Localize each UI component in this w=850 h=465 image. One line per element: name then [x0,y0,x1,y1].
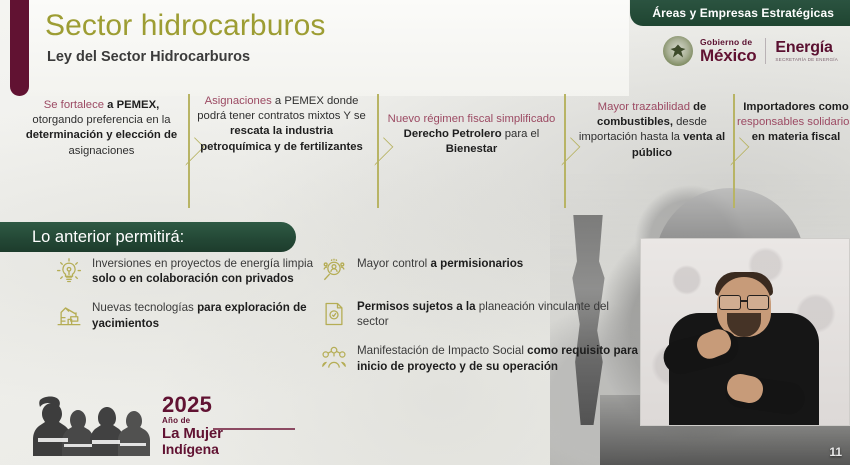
oil-derrick-icon [55,301,83,329]
text-segment: Se fortalece [44,99,107,111]
text-segment: otorgando preferencia en la [32,114,170,126]
bullet-item: Permisos sujetos a la planeación vincula… [320,299,640,329]
text-segment: Manifestación de Impacto Social [357,344,527,357]
text-segment: Asignaciones [205,95,275,107]
presentation-slide: Sector hidrocarburos Ley del Sector Hidr… [0,0,850,465]
ano-de-label: Año de [162,417,223,425]
col-regimen-fiscal: Nuevo régimen fiscal simplificado Derech… [384,90,559,158]
document-check-icon [320,300,348,328]
logo-divider [765,38,766,64]
text-segment: para el [502,128,540,140]
text-segment: Derecho Petrolero [404,128,502,140]
col-importadores: Importadores como responsables solidario… [736,90,850,146]
energia-label: Energía [775,40,838,56]
eagle-emblem-icon [663,36,693,66]
col-trazabilidad: Mayor trazabilidad de combustibles, desd… [572,90,732,161]
bullet-text: Permisos sujetos a la planeación vincula… [357,299,640,329]
text-segment: Importadores como [743,101,848,113]
text-segment: Permisos sujetos a la [357,300,479,313]
text-segment: Mayor trazabilidad [598,101,693,113]
energia-sublabel: SECRETARÍA DE ENERGÍA [775,58,838,63]
lo-anterior-banner: Lo anterior permitirá: [0,222,296,252]
text-segment: determinación y elección de [26,129,177,141]
banner-label: Lo anterior permitirá: [32,228,184,247]
text-segment: rescata la industria petroquímica y de f… [200,125,363,152]
gobierno-label: Gobierno de [700,38,756,47]
text-segment: solo o en colaboración con privados [92,272,294,285]
bullets-right-column: Mayor control a permisionariosPermisos s… [320,256,640,388]
bullet-item: Nuevas tecnologías para exploración de y… [55,300,325,330]
bullet-item: Inversiones en proyectos de energía limp… [55,256,325,286]
text-segment: responsables solidarios [737,116,850,128]
bullet-text: Nuevas tecnologías para exploración de y… [92,300,325,330]
page-subtitle: Ley del Sector Hidrocarburos [47,49,250,65]
year-2025: 2025 [162,394,223,416]
strategic-areas-label: Áreas y Empresas Estratégicas [652,6,834,20]
col-asignaciones: Asignaciones a PEMEX donde podrá tener c… [194,90,369,155]
page-title: Sector hidrocarburos [45,9,325,43]
bullet-text: Inversiones en proyectos de energía limp… [92,256,325,286]
indigenous-women-illustration [28,394,156,456]
text-segment: Nuevo régimen fiscal simplificado [388,113,556,125]
text-segment: a PEMEX, [107,99,159,111]
bullet-item: Mayor control a permisionarios [320,256,640,285]
footer-rule [213,428,295,430]
column-separator-2 [557,94,573,208]
page-number: 11 [829,445,842,459]
mujer-indigena-logo: 2025 Año de La Mujer Indígena [28,392,288,458]
social-network-icon [320,344,348,372]
left-accent-bar [10,0,29,96]
bullets-left-column: Inversiones en proyectos de energía limp… [55,256,325,345]
magnifier-people-icon [320,257,348,285]
sign-language-interpreter-video[interactable] [640,238,850,426]
text-segment: Mayor control [357,257,430,270]
text-segment: a permisionarios [430,257,523,270]
text-segment: Bienestar [446,143,498,155]
government-logo: Gobierno de México Energía SECRETARÍA DE… [663,32,838,70]
bullet-text: Mayor control a permisionarios [357,256,523,285]
bullet-item: Manifestación de Impacto Social como req… [320,343,640,373]
indigena-label: Indígena [162,442,223,456]
col-pemex-fortalece: Se fortalece a PEMEX, otorgando preferen… [24,90,179,159]
text-segment: Nuevas tecnologías [92,301,197,314]
text-segment: asignaciones [69,145,135,157]
text-segment: en materia fiscal [752,131,841,143]
gobierno-mexico-text: Gobierno de México [700,38,756,65]
year-block: 2025 Año de La Mujer Indígena [162,394,223,456]
lightbulb-icon [55,257,83,285]
text-segment: Inversiones en proyectos de energía limp… [92,257,313,270]
interpreter-glasses [719,295,769,308]
mexico-label: México [700,47,756,64]
feature-columns: Se fortalece a PEMEX, otorgando preferen… [24,90,834,212]
strategic-areas-tag: Áreas y Empresas Estratégicas [630,0,850,26]
energia-logo: Energía SECRETARÍA DE ENERGÍA [775,40,838,63]
bullet-text: Manifestación de Impacto Social como req… [357,343,640,373]
